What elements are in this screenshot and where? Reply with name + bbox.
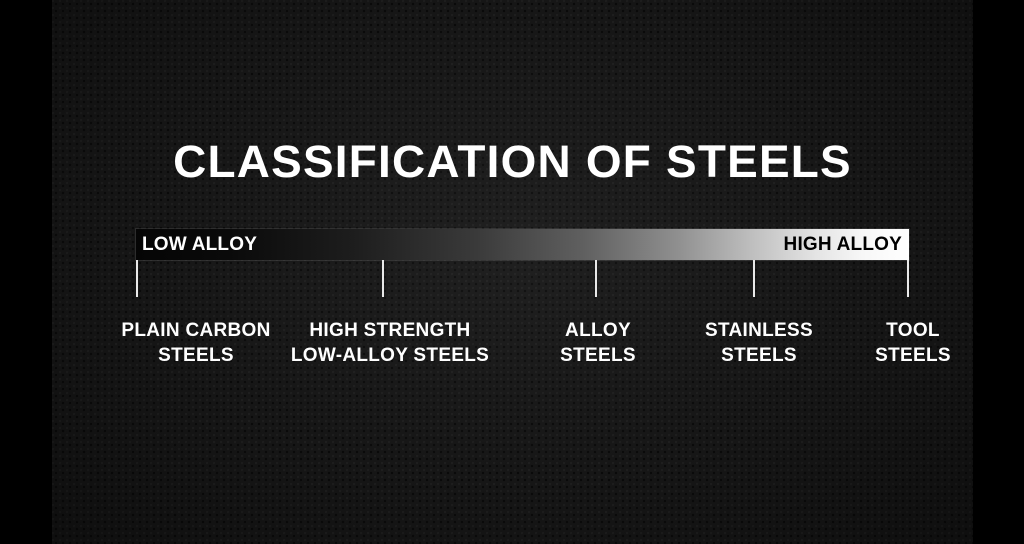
category-label-plain-carbon-steels: PLAIN CARBON STEELS [121,318,270,368]
category-label-line1: STAINLESS [705,320,813,341]
scale-label-high-alloy: HIGH ALLOY [784,229,902,260]
category-label-line1: HIGH STRENGTH [309,320,470,341]
slide-stage: CLASSIFICATION OF STEELS LOW ALLOY HIGH … [0,0,1024,544]
scale-label-low-alloy: LOW ALLOY [142,229,257,260]
category-label-tool-steels: TOOL STEELS [875,318,951,368]
scale-tick-2 [595,260,597,297]
category-label-line2: STEELS [121,343,270,368]
scale-tick-0 [136,260,138,297]
category-label-line1: ALLOY [565,320,631,341]
letterbox-bar-left [0,0,52,544]
category-label-high-strength-low-alloy-steels: HIGH STRENGTH LOW-ALLOY STEELS [291,318,489,368]
category-label-line1: PLAIN CARBON [121,320,270,341]
letterbox-bar-right [973,0,1024,544]
category-label-line2: STEELS [705,343,813,368]
category-label-group: PLAIN CARBON STEELS HIGH STRENGTH LOW-AL… [52,318,973,388]
page-title: CLASSIFICATION OF STEELS [52,136,973,188]
category-label-line2: LOW-ALLOY STEELS [291,343,489,368]
scale-tick-group [136,260,909,300]
alloy-scale-bar: LOW ALLOY HIGH ALLOY [136,229,909,260]
category-label-line2: STEELS [560,343,636,368]
category-label-alloy-steels: ALLOY STEELS [560,318,636,368]
category-label-line1: TOOL [886,320,940,341]
slide-content-area: CLASSIFICATION OF STEELS LOW ALLOY HIGH … [52,0,973,544]
scale-tick-1 [382,260,384,297]
scale-tick-4 [907,260,909,297]
category-label-stainless-steels: STAINLESS STEELS [705,318,813,368]
category-label-line2: STEELS [875,343,951,368]
scale-tick-3 [753,260,755,297]
